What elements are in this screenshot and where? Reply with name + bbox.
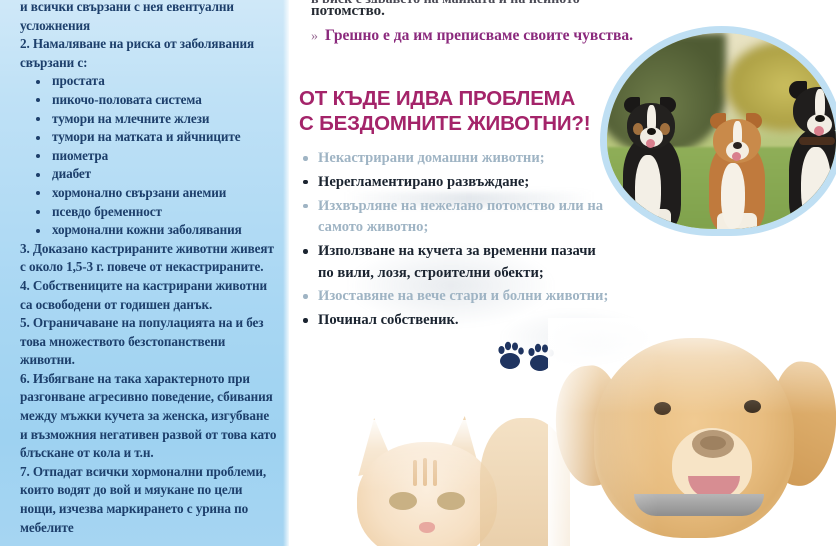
benefit-item-6: 6. Избягване на така характерното при ра… bbox=[20, 370, 278, 463]
intro-line-1: и всички свързани с нея евентуални bbox=[20, 0, 278, 17]
list-item: тумори на матката и яйчниците bbox=[36, 128, 278, 147]
benefit-item-4: 4. Собствениците на кастрирани животни с… bbox=[20, 277, 278, 314]
cut-off-top-line: в риск е здравето на майката и на нейнот… bbox=[311, 0, 811, 3]
benefit-item-2-title: 2. Намаляване на риска от заболявания св… bbox=[20, 35, 278, 72]
list-item: простата bbox=[36, 72, 278, 91]
benefit-item-7: 7. Отпадат всички хормонални проблеми, к… bbox=[20, 463, 278, 537]
benefit-item-5: 5. Ограничаване на популацията на и без … bbox=[20, 314, 278, 370]
offspring-line: потомство. bbox=[311, 3, 385, 20]
list-item: Некастрирани домашни животни; bbox=[299, 148, 611, 169]
intro-line-2: усложнения bbox=[20, 17, 278, 36]
list-item: хормонални кожни заболявания bbox=[36, 221, 278, 240]
list-item: Починал собственик. bbox=[299, 310, 611, 331]
causes-list: Некастрирани домашни животни; Нерегламен… bbox=[299, 148, 611, 334]
three-dogs-photo bbox=[607, 33, 836, 229]
dog-black-tricolour bbox=[613, 95, 691, 229]
list-item: тумори на млечните жлези bbox=[36, 110, 278, 129]
list-item: Изоставяне на вече стари и болни животни… bbox=[299, 286, 611, 307]
list-item: хормонално свързани анемии bbox=[36, 184, 278, 203]
list-item: Нерегламентирано развъждане; bbox=[299, 172, 611, 193]
benefit-2-bullet-list: простата пикочо-половата система тумори … bbox=[20, 72, 278, 239]
dog-border-collie bbox=[777, 83, 836, 229]
cat-body-blur bbox=[480, 418, 570, 546]
list-item: пиометра bbox=[36, 147, 278, 166]
list-item: Използване на кучета за временни пазачи … bbox=[299, 241, 611, 284]
section-heading-line-1: ОТ КЪДЕ ИДВА ПРОБЛЕМА bbox=[299, 87, 575, 110]
benefit-item-3: 3. Доказано кастрираните животни живеят … bbox=[20, 240, 278, 277]
section-heading-line-2: С БЕЗДОМНИТЕ ЖИВОТНИ?! bbox=[299, 111, 629, 136]
left-benefits-panel: и всички свързани с нея евентуални услож… bbox=[0, 0, 289, 546]
list-item: Изхвърляне на нежелано потомство или на … bbox=[299, 196, 611, 239]
dog-red-white bbox=[697, 105, 777, 229]
section-heading: ОТ КЪДЕ ИДВА ПРОБЛЕМА С БЕЗДОМНИТЕ ЖИВОТ… bbox=[299, 86, 629, 136]
feelings-statement: »Грешно е да им преписваме своите чувств… bbox=[311, 27, 633, 45]
poster-page: и всички свързани с нея евентуални услож… bbox=[0, 0, 836, 546]
list-item: диабет bbox=[36, 165, 278, 184]
list-item: пикочо-половата система bbox=[36, 91, 278, 110]
guillemet-bullet-icon: » bbox=[311, 29, 318, 44]
left-panel-text: и всички свързани с нея евентуални услож… bbox=[20, 0, 278, 537]
feelings-statement-text: Грешно е да им преписваме своите чувства… bbox=[325, 27, 633, 44]
paw-prints-icon bbox=[497, 335, 559, 371]
list-item: псевдо бременност bbox=[36, 203, 278, 222]
